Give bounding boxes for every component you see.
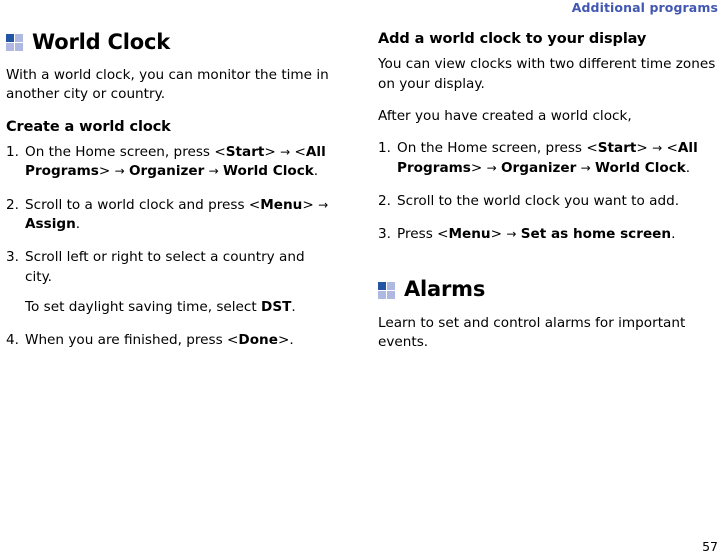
step-number: 3.: [378, 225, 391, 244]
right-column: Add a world clock to your display You ca…: [346, 31, 724, 366]
step-number: 1.: [378, 139, 391, 158]
step-number: 2.: [6, 196, 19, 215]
step-item: 2.Scroll to a world clock and press <Men…: [6, 196, 332, 235]
four-squares-icon: [6, 34, 23, 51]
running-header: Additional programs: [0, 0, 718, 15]
step-substep-text: To set daylight saving time, select DST.: [25, 298, 332, 317]
step-item: 1.On the Home screen, press <Start> → <A…: [6, 143, 332, 182]
add-world-clock-intro-paragraph-2: After you have created a world clock,: [378, 107, 718, 126]
page-number: 57: [702, 539, 718, 554]
left-column: World Clock With a world clock, you can …: [0, 31, 346, 366]
add-world-clock-intro-paragraph: You can view clocks with two different t…: [378, 55, 718, 94]
step-text: Scroll left or right to select a country…: [25, 249, 305, 284]
alarms-intro-paragraph: Learn to set and control alarms for impo…: [378, 314, 718, 353]
four-squares-icon: [378, 282, 395, 299]
step-number: 4.: [6, 331, 19, 350]
step-text: Scroll to a world clock and press <Menu>…: [25, 197, 328, 232]
step-number: 1.: [6, 143, 19, 162]
step-text: On the Home screen, press <Start> → <All…: [25, 144, 326, 179]
chapter-title-text: Alarms: [404, 278, 485, 301]
chapter-heading-alarms: Alarms: [378, 278, 718, 301]
world-clock-intro-paragraph: With a world clock, you can monitor the …: [6, 66, 332, 105]
step-item: 1.On the Home screen, press <Start> → <A…: [378, 139, 718, 178]
step-number: 3.: [6, 248, 19, 267]
section-heading-create-world-clock: Create a world clock: [6, 119, 332, 136]
section-heading-add-world-clock: Add a world clock to your display: [378, 31, 718, 48]
add-world-clock-steps: 1.On the Home screen, press <Start> → <A…: [378, 139, 718, 244]
step-item: 3.Press <Menu> → Set as home screen.: [378, 225, 718, 244]
step-item: 4.When you are finished, press <Done>.: [6, 331, 332, 350]
step-text: When you are finished, press <Done>.: [25, 332, 294, 348]
step-text: On the Home screen, press <Start> → <All…: [397, 140, 698, 175]
step-text: Press <Menu> → Set as home screen.: [397, 226, 675, 242]
create-world-clock-steps: 1.On the Home screen, press <Start> → <A…: [6, 143, 332, 350]
step-item: 3.Scroll left or right to select a count…: [6, 248, 332, 317]
step-item: 2.Scroll to the world clock you want to …: [378, 192, 718, 211]
chapter-heading-world-clock: World Clock: [6, 31, 332, 54]
chapter-title-text: World Clock: [32, 31, 170, 54]
section-spacer: [378, 244, 718, 278]
page-columns: World Clock With a world clock, you can …: [0, 31, 724, 366]
step-text: Scroll to the world clock you want to ad…: [397, 193, 679, 209]
step-number: 2.: [378, 192, 391, 211]
